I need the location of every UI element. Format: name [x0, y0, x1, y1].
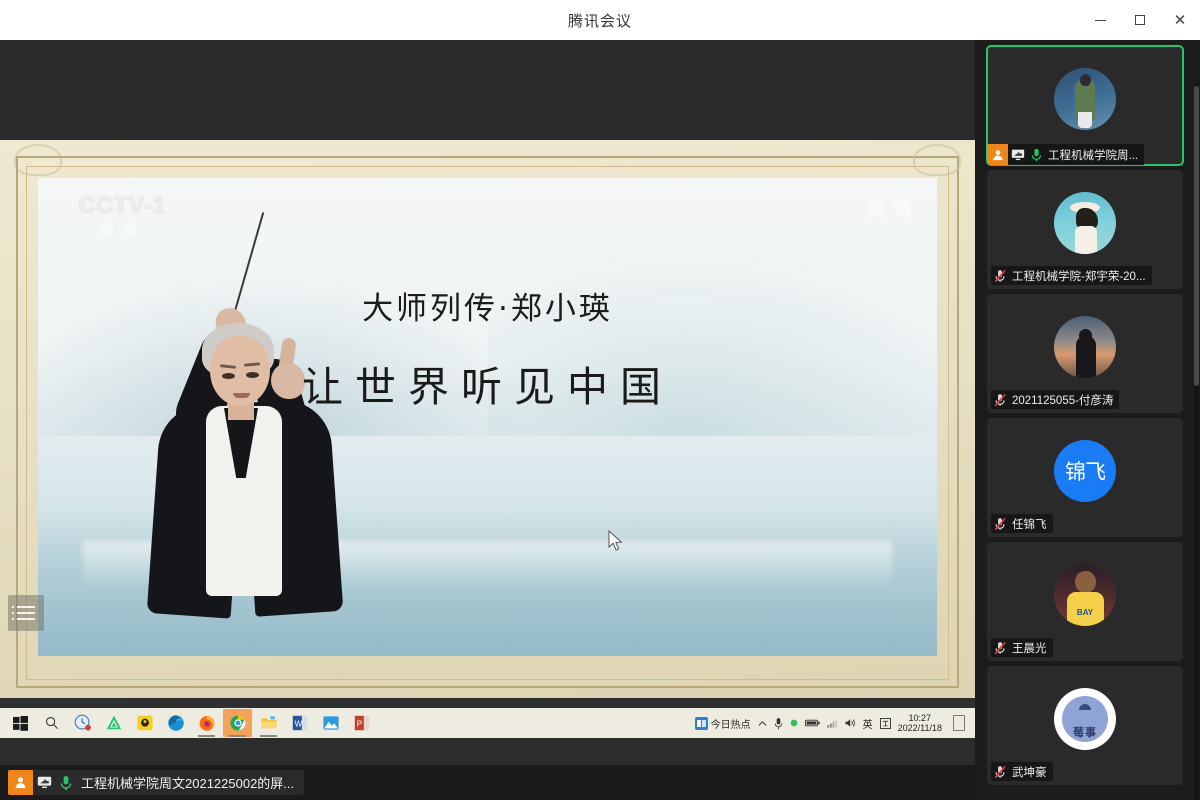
app-title: 腾讯会议	[568, 10, 632, 31]
system-tray: 今日热点	[695, 713, 969, 734]
conductor-figure	[128, 208, 343, 618]
participant-name-5: 王晨光	[1010, 640, 1047, 656]
taskbar-clock[interactable]: 10:27 2022/11/18	[898, 713, 942, 734]
firefox-browser-icon	[198, 714, 216, 732]
participant-label-6: 武坤豪	[991, 762, 1053, 781]
search-button[interactable]	[37, 709, 66, 737]
sharer-status-bar: 工程机械学院周文2021225002的屏...	[0, 765, 975, 800]
video-decorative-frame: CCTV-1 综合 高清	[0, 140, 975, 698]
maximize-icon	[1135, 15, 1145, 25]
ime-indicator[interactable]: 英	[863, 716, 873, 731]
microphone-muted-icon	[991, 641, 1010, 655]
participant-label-1: 工程机械学院周...	[987, 144, 1144, 165]
screen-share-icon	[33, 776, 55, 789]
news-hotspot-button[interactable]: 今日热点	[695, 716, 751, 731]
participant-tile-5[interactable]: BAY 王晨光	[987, 542, 1183, 661]
participant-name-2: 工程机械学院-郑宇荣-20...	[1010, 268, 1146, 284]
taskbar-app-3[interactable]	[130, 709, 159, 737]
hd-quality-badge: 高清	[865, 194, 919, 224]
ime-panel-icon[interactable]	[880, 718, 891, 729]
participant-label-3: 2021125055-付彦涛	[991, 390, 1119, 409]
photos-app-icon	[322, 714, 340, 732]
participant-tile-3[interactable]: 2021125055-付彦涛	[987, 294, 1183, 413]
drive-app-icon	[105, 714, 123, 732]
tencent-meeting-window: 腾讯会议 ✕	[0, 0, 1200, 800]
edge-browser-icon	[167, 714, 185, 732]
microphone-muted-icon	[991, 393, 1010, 407]
avatar: 莓事	[1054, 688, 1116, 750]
chrome-browser-icon	[229, 714, 247, 732]
desktop-lower-strip	[0, 738, 975, 765]
participant-scrollbar-thumb[interactable]	[1194, 86, 1199, 386]
volume-icon[interactable]	[845, 718, 856, 728]
taskbar-app-word[interactable]: W	[285, 709, 314, 737]
news-hotspot-icon	[695, 717, 708, 730]
file-explorer-icon	[260, 714, 278, 732]
maximize-button[interactable]	[1120, 0, 1160, 40]
avatar-jersey-text: BAY	[1054, 608, 1116, 617]
shared-screen-stage[interactable]: CCTV-1 综合 高清	[0, 40, 975, 765]
avatar-image-1	[1054, 68, 1116, 130]
word-app-icon: W	[291, 714, 309, 732]
avatar-image-6: 莓事	[1054, 688, 1116, 750]
participant-name-1: 工程机械学院周...	[1046, 147, 1138, 163]
taskbar-app-2[interactable]	[99, 709, 128, 737]
video-player-content[interactable]: CCTV-1 综合 高清	[38, 178, 937, 656]
avatar-image-5: BAY	[1054, 564, 1116, 626]
list-menu-icon[interactable]	[8, 595, 44, 631]
minimize-button[interactable]	[1080, 0, 1120, 40]
participant-label-5: 王晨光	[991, 638, 1053, 657]
participant-rail[interactable]: 工程机械学院周...	[975, 40, 1200, 800]
participant-name-6: 武坤豪	[1010, 764, 1047, 780]
participant-label-2: 工程机械学院-郑宇荣-20...	[991, 266, 1152, 285]
participant-label-4: 任锦飞	[991, 514, 1053, 533]
shared-desktop: CCTV-1 综合 高清	[0, 140, 975, 765]
title-bar: 腾讯会议 ✕	[0, 0, 1200, 40]
network-icon[interactable]	[827, 719, 838, 728]
windows-logo-icon	[13, 716, 28, 731]
participant-name-4: 任锦飞	[1010, 516, 1047, 532]
avatar-image-3	[1054, 316, 1116, 378]
svg-text:W: W	[294, 720, 302, 729]
close-button[interactable]: ✕	[1160, 0, 1200, 40]
microphone-icon[interactable]	[774, 717, 783, 730]
windows-taskbar[interactable]: W P	[0, 708, 975, 738]
taskbar-app-photos[interactable]	[316, 709, 345, 737]
avatar-initials-text: 锦飞	[1065, 456, 1105, 486]
clock-time: 10:27	[898, 713, 942, 723]
microphone-muted-icon	[991, 269, 1010, 283]
clock-date: 2022/11/18	[898, 723, 942, 733]
close-icon: ✕	[1174, 13, 1187, 28]
taskbar-app-edge[interactable]	[161, 709, 190, 737]
sharer-status-text: 工程机械学院周文2021225002的屏...	[77, 773, 304, 792]
sharer-status-pill[interactable]: 工程机械学院周文2021225002的屏...	[8, 770, 304, 795]
microphone-muted-icon	[991, 517, 1010, 531]
taskbar-app-explorer[interactable]	[254, 709, 283, 737]
microphone-muted-icon	[991, 765, 1010, 779]
participant-tile-6[interactable]: 莓事 武坤豪	[987, 666, 1183, 785]
participant-tile-2[interactable]: 工程机械学院-郑宇荣-20...	[987, 170, 1183, 289]
taskbar-app-chrome[interactable]	[223, 709, 252, 737]
participant-tile-4[interactable]: 锦飞 任锦飞	[987, 418, 1183, 537]
minimize-icon	[1095, 20, 1106, 21]
avatar-image-2	[1054, 192, 1116, 254]
show-desktop-icon[interactable]	[953, 715, 965, 731]
screen-share-icon	[1008, 149, 1027, 161]
participant-name-3: 2021125055-付彦涛	[1010, 392, 1113, 408]
avatar-initials-4: 锦飞	[1054, 440, 1116, 502]
microphone-on-icon	[1027, 148, 1046, 162]
powerpoint-app-icon: P	[353, 714, 371, 732]
taskbar-app-firefox[interactable]	[192, 709, 221, 737]
start-button[interactable]	[6, 709, 35, 737]
host-person-icon	[8, 770, 33, 795]
video-title-primary: 大师列传·郑小瑛	[38, 283, 937, 328]
taskbar-app-1[interactable]	[68, 709, 97, 737]
avatar	[1054, 192, 1116, 254]
svg-text:P: P	[356, 720, 361, 729]
window-controls: ✕	[1080, 0, 1200, 40]
avatar: 锦飞	[1054, 440, 1116, 502]
microphone-on-icon	[55, 775, 77, 791]
video-title-secondary: 让世界听见中国	[38, 353, 937, 413]
news-hotspot-label: 今日热点	[711, 716, 751, 731]
avatar	[1054, 68, 1116, 130]
avatar	[1054, 316, 1116, 378]
host-person-icon	[987, 144, 1008, 165]
mouse-cursor-icon	[608, 530, 624, 552]
clock-app-icon	[74, 714, 92, 732]
taskbar-app-powerpoint[interactable]: P	[347, 709, 376, 737]
status-dot-icon[interactable]	[790, 719, 798, 727]
battery-icon[interactable]	[805, 719, 820, 727]
note-app-icon	[136, 714, 154, 732]
avatar: BAY	[1054, 564, 1116, 626]
chevron-up-icon[interactable]	[758, 720, 767, 727]
search-icon	[45, 716, 59, 730]
avatar-caption-text: 莓事	[1054, 724, 1116, 740]
participant-tile-1[interactable]: 工程机械学院周...	[987, 46, 1183, 165]
